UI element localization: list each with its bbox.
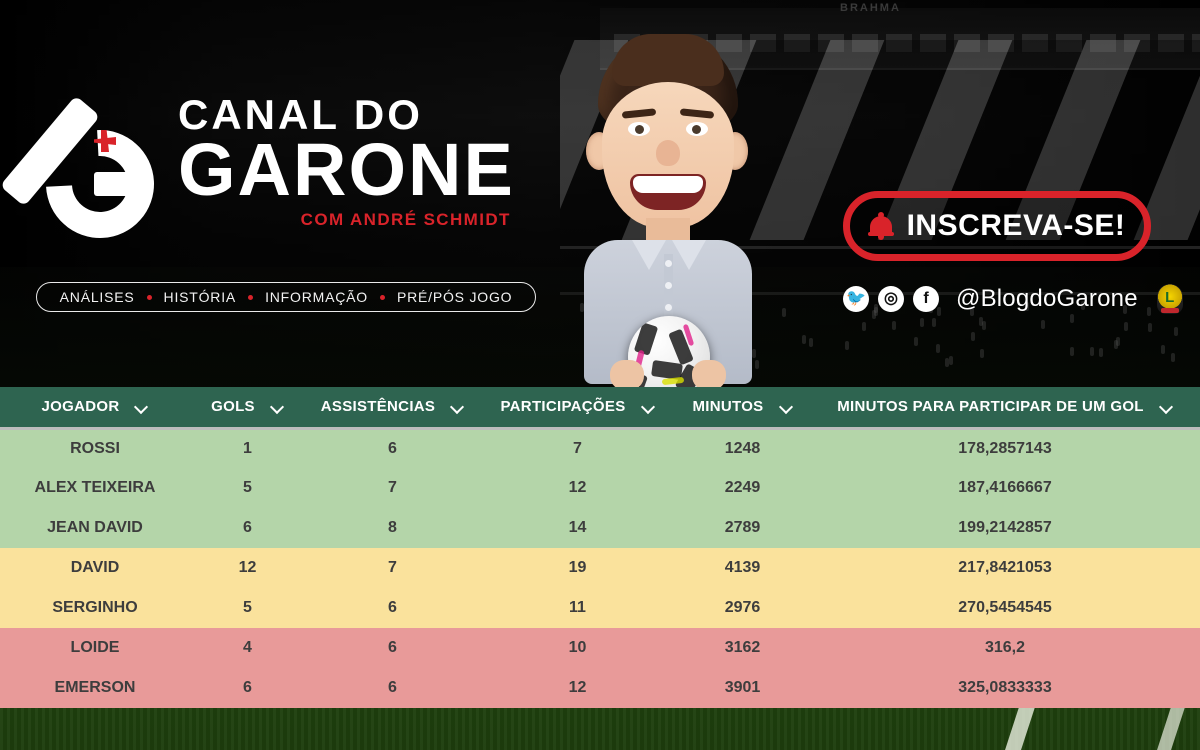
column-header-label: GOLS <box>211 398 255 415</box>
cell-assists: 7 <box>305 548 480 588</box>
cell-assists: 6 <box>305 668 480 708</box>
nav-item-an-lises[interactable]: ANÁLISES <box>60 289 135 305</box>
partner-badge-letter: L <box>1165 290 1174 305</box>
cell-goals: 6 <box>190 668 305 708</box>
cell-participations: 14 <box>480 508 675 548</box>
nav-item-informa-o[interactable]: INFORMAÇÃO <box>265 289 368 305</box>
cell-minutes-per-goal: 199,2142857 <box>810 508 1200 548</box>
cell-goals: 4 <box>190 628 305 668</box>
column-header-participa-es[interactable]: PARTICIPAÇÕES <box>480 387 675 428</box>
cell-minutes: 3901 <box>675 668 810 708</box>
cell-player-name: SERGINHO <box>0 588 190 628</box>
cell-minutes: 2789 <box>675 508 810 548</box>
table-header-row: JOGADORGOLSASSISTÊNCIASPARTICIPAÇÕESMINU… <box>0 387 1200 428</box>
cell-participations: 10 <box>480 628 675 668</box>
chevron-down-icon[interactable] <box>451 400 464 413</box>
cell-player-name: DAVID <box>0 548 190 588</box>
column-header-label: PARTICIPAÇÕES <box>500 398 625 415</box>
social-handle-text[interactable]: @BlogdoGarone <box>956 285 1138 313</box>
cell-participations: 7 <box>480 428 675 468</box>
cell-minutes: 2249 <box>675 468 810 508</box>
cell-minutes-per-goal: 217,8421053 <box>810 548 1200 588</box>
site-logo[interactable]: CANAL DO GARONE COM ANDRÉ SCHMIDT <box>38 92 558 252</box>
cell-goals: 5 <box>190 468 305 508</box>
chevron-down-icon[interactable] <box>642 400 655 413</box>
cell-assists: 8 <box>305 508 480 548</box>
facebook-icon[interactable]: f <box>913 286 939 312</box>
logo-subtitle: COM ANDRÉ SCHMIDT <box>178 210 515 230</box>
stadium-sign-text: BRAHMA <box>840 2 901 14</box>
cell-goals: 5 <box>190 588 305 628</box>
nav-pill[interactable]: ANÁLISESHISTÓRIAINFORMAÇÃOPRÉ/PÓS JOGO <box>36 282 536 312</box>
subscribe-button-label: INSCREVA-SE! <box>907 209 1126 243</box>
cell-minutes: 1248 <box>675 428 810 468</box>
cell-participations: 12 <box>480 468 675 508</box>
cell-player-name: ROSSI <box>0 428 190 468</box>
subscribe-button[interactable]: INSCREVA-SE! <box>843 191 1151 261</box>
cell-player-name: EMERSON <box>0 668 190 708</box>
cell-participations: 11 <box>480 588 675 628</box>
table-body: ROSSI1671248178,2857143ALEX TEIXEIRA5712… <box>0 428 1200 708</box>
cell-minutes-per-goal: 270,5454545 <box>810 588 1200 628</box>
social-links-row[interactable]: 🐦◎f@BlogdoGaroneL <box>843 283 1183 315</box>
nav-item-pr-p-s-jogo[interactable]: PRÉ/PÓS JOGO <box>397 289 512 305</box>
vasco-cross-icon <box>94 130 116 152</box>
column-header-minutos[interactable]: MINUTOS <box>675 387 810 428</box>
cell-goals: 6 <box>190 508 305 548</box>
table-row[interactable]: ALEX TEIXEIRA57122249187,4166667 <box>0 468 1200 508</box>
column-header-jogador[interactable]: JOGADOR <box>0 387 190 428</box>
host-caricature-avatar <box>568 34 768 384</box>
cell-participations: 12 <box>480 668 675 708</box>
nav-separator-dot <box>248 295 253 300</box>
cell-assists: 7 <box>305 468 480 508</box>
table-row[interactable]: EMERSON66123901325,0833333 <box>0 668 1200 708</box>
cell-assists: 6 <box>305 428 480 468</box>
cell-minutes: 3162 <box>675 628 810 668</box>
table-header: JOGADORGOLSASSISTÊNCIASPARTICIPAÇÕESMINU… <box>0 387 1200 428</box>
chevron-down-icon[interactable] <box>1160 400 1173 413</box>
table-row[interactable]: LOIDE46103162316,2 <box>0 628 1200 668</box>
cell-player-name: JEAN DAVID <box>0 508 190 548</box>
nav-separator-dot <box>380 295 385 300</box>
cell-minutes-per-goal: 316,2 <box>810 628 1200 668</box>
cell-player-name: ALEX TEIXEIRA <box>0 468 190 508</box>
nav-item-hist-ria[interactable]: HISTÓRIA <box>164 289 237 305</box>
twitter-icon[interactable]: 🐦 <box>843 286 869 312</box>
cell-goals: 1 <box>190 428 305 468</box>
logo-wordmark: CANAL DO GARONE COM ANDRÉ SCHMIDT <box>178 92 515 230</box>
cell-minutes: 2976 <box>675 588 810 628</box>
nav-separator-dot <box>147 295 152 300</box>
garone-g-logo-icon <box>38 94 170 244</box>
cell-participations: 19 <box>480 548 675 588</box>
cell-goals: 12 <box>190 548 305 588</box>
partner-badge-icon: L <box>1157 284 1183 314</box>
table-row[interactable]: SERGINHO56112976270,5454545 <box>0 588 1200 628</box>
column-header-gols[interactable]: GOLS <box>190 387 305 428</box>
column-header-label: JOGADOR <box>42 398 120 415</box>
bell-icon <box>869 212 893 240</box>
column-header-label: MINUTOS PARA PARTICIPAR DE UM GOL <box>837 398 1144 415</box>
cell-minutes-per-goal: 325,0833333 <box>810 668 1200 708</box>
table-row[interactable]: DAVID127194139217,8421053 <box>0 548 1200 588</box>
table-row[interactable]: ROSSI1671248178,2857143 <box>0 428 1200 468</box>
cell-minutes-per-goal: 178,2857143 <box>810 428 1200 468</box>
cell-assists: 6 <box>305 628 480 668</box>
stats-table-container: JOGADORGOLSASSISTÊNCIASPARTICIPAÇÕESMINU… <box>0 387 1200 708</box>
table-row[interactable]: JEAN DAVID68142789199,2142857 <box>0 508 1200 548</box>
column-header-assist-ncias[interactable]: ASSISTÊNCIAS <box>305 387 480 428</box>
cell-player-name: LOIDE <box>0 628 190 668</box>
chevron-down-icon[interactable] <box>271 400 284 413</box>
logo-line-two: GARONE <box>178 134 515 206</box>
column-header-label: ASSISTÊNCIAS <box>321 398 435 415</box>
chevron-down-icon[interactable] <box>780 400 793 413</box>
instagram-icon[interactable]: ◎ <box>878 286 904 312</box>
column-header-label: MINUTOS <box>693 398 764 415</box>
cell-assists: 6 <box>305 588 480 628</box>
player-stats-table: JOGADORGOLSASSISTÊNCIASPARTICIPAÇÕESMINU… <box>0 387 1200 708</box>
cell-minutes-per-goal: 187,4166667 <box>810 468 1200 508</box>
chevron-down-icon[interactable] <box>135 400 148 413</box>
cell-minutes: 4139 <box>675 548 810 588</box>
column-header-minutos-para-participar-de-um-gol[interactable]: MINUTOS PARA PARTICIPAR DE UM GOL <box>810 387 1200 428</box>
header-banner: BRAHMA CANAL DO GARONE COM ANDRÉ SCHMIDT… <box>0 0 1200 387</box>
